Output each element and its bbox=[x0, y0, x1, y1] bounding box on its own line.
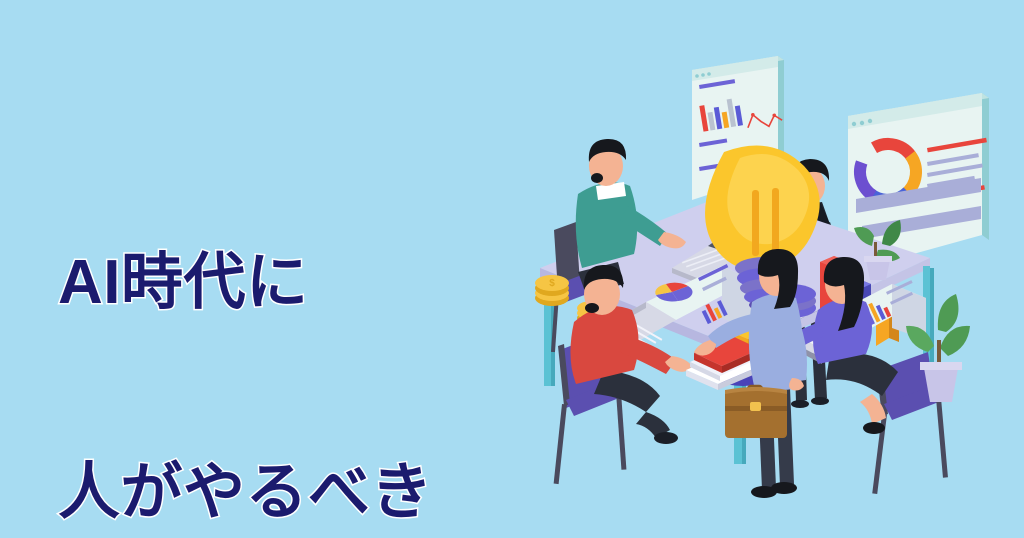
page-title: AI時代に 人がやるべき 仕事は何か bbox=[58, 108, 528, 538]
banner-canvas: AI時代に 人がやるべき 仕事は何か ホワイトカラー業務の 役割再設計 bbox=[0, 0, 1024, 538]
text-block: AI時代に 人がやるべき 仕事は何か ホワイトカラー業務の 役割再設計 bbox=[58, 108, 528, 538]
illustration-business-team: $ $ bbox=[500, 40, 1024, 520]
headline-line-2: 人がやるべき bbox=[58, 458, 528, 528]
svg-text:$: $ bbox=[549, 278, 555, 289]
headline-line-1: AI時代に bbox=[58, 248, 528, 318]
briefcase bbox=[725, 386, 787, 438]
